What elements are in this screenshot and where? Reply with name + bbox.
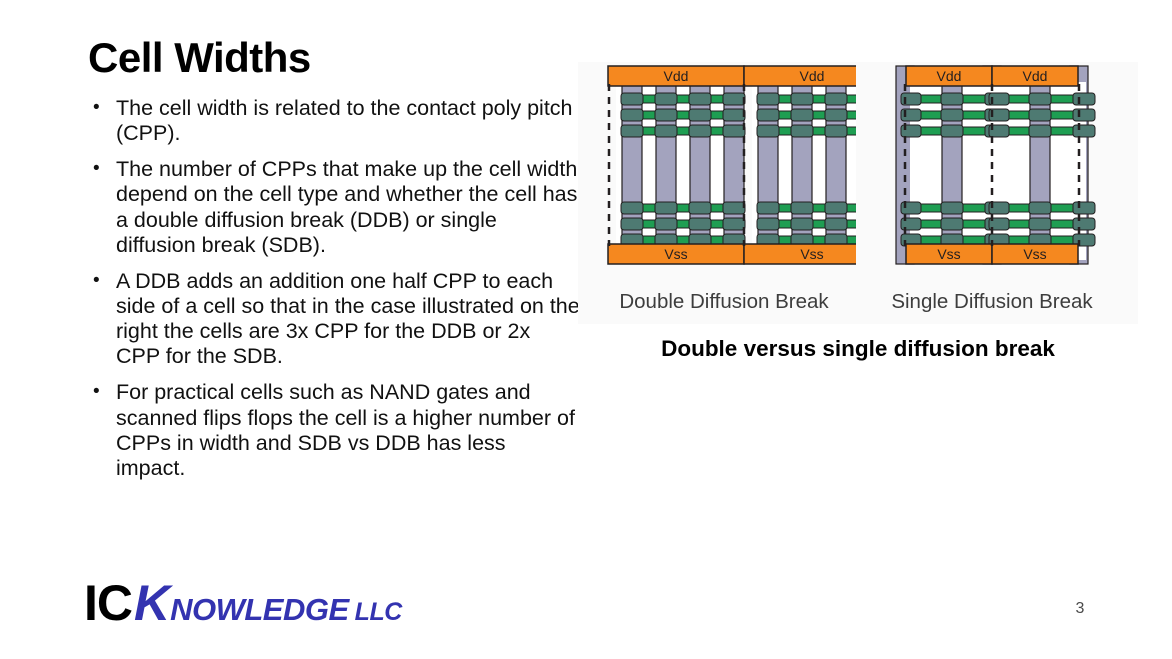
page-number: 3 bbox=[1060, 600, 1100, 618]
logo-text-nowledge: NOWLEDGE bbox=[170, 594, 349, 625]
logo-text-k: K bbox=[134, 578, 170, 628]
vss-label-right: Vss bbox=[1023, 246, 1046, 262]
cell-body-left bbox=[616, 82, 745, 260]
figure-double-diffusion-break: Vdd Vdd Vss Vss Double Diffusion Break bbox=[592, 62, 856, 277]
diagram-title: Double versus single diffusion break bbox=[578, 336, 1138, 362]
vdd-label-left: Vdd bbox=[937, 68, 962, 84]
list-item: • A DDB adds an addition one half CPP to… bbox=[90, 269, 580, 370]
figure-caption-sdb: Single Diffusion Break bbox=[886, 290, 1098, 314]
vss-label-right: Vss bbox=[800, 246, 823, 262]
vdd-label-left: Vdd bbox=[664, 68, 689, 84]
bullet-icon: • bbox=[93, 269, 100, 293]
layout-art-sdb: Vdd Vdd Vss Vss bbox=[886, 62, 1098, 277]
list-item: • For practical cells such as NAND gates… bbox=[90, 380, 580, 481]
vss-label-left: Vss bbox=[937, 246, 960, 262]
bullet-icon: • bbox=[93, 380, 100, 404]
figure-single-diffusion-break: Vdd Vdd Vss Vss Single Diffusion Break bbox=[886, 62, 1098, 277]
list-item-text: The number of CPPs that make up the cell… bbox=[116, 157, 577, 256]
layout-art-ddb: Vdd Vdd Vss Vss bbox=[592, 62, 856, 277]
list-item: • The cell width is related to the conta… bbox=[90, 96, 580, 146]
list-item-text: The cell width is related to the contact… bbox=[116, 96, 573, 145]
page-title: Cell Widths bbox=[88, 36, 311, 80]
vdd-label-right: Vdd bbox=[1023, 68, 1048, 84]
logo-text-ic: IC bbox=[84, 578, 132, 628]
logo-text-llc: LLC bbox=[355, 600, 402, 625]
ic-knowledge-logo: IC K NOWLEDGE LLC bbox=[84, 578, 402, 630]
vdd-label-right: Vdd bbox=[800, 68, 825, 84]
bullet-icon: • bbox=[93, 157, 100, 181]
list-item: • The number of CPPs that make up the ce… bbox=[90, 157, 580, 258]
figure-caption-ddb: Double Diffusion Break bbox=[592, 290, 856, 314]
list-item-text: For practical cells such as NAND gates a… bbox=[116, 380, 575, 479]
bullet-icon: • bbox=[93, 96, 100, 120]
bullet-list: • The cell width is related to the conta… bbox=[90, 96, 580, 492]
cell-body-right bbox=[752, 82, 856, 260]
list-item-text: A DDB adds an addition one half CPP to e… bbox=[116, 269, 580, 368]
diagram-panel: Vdd Vdd Vss Vss Double Diffusion Break bbox=[578, 62, 1138, 324]
vss-label-left: Vss bbox=[664, 246, 687, 262]
